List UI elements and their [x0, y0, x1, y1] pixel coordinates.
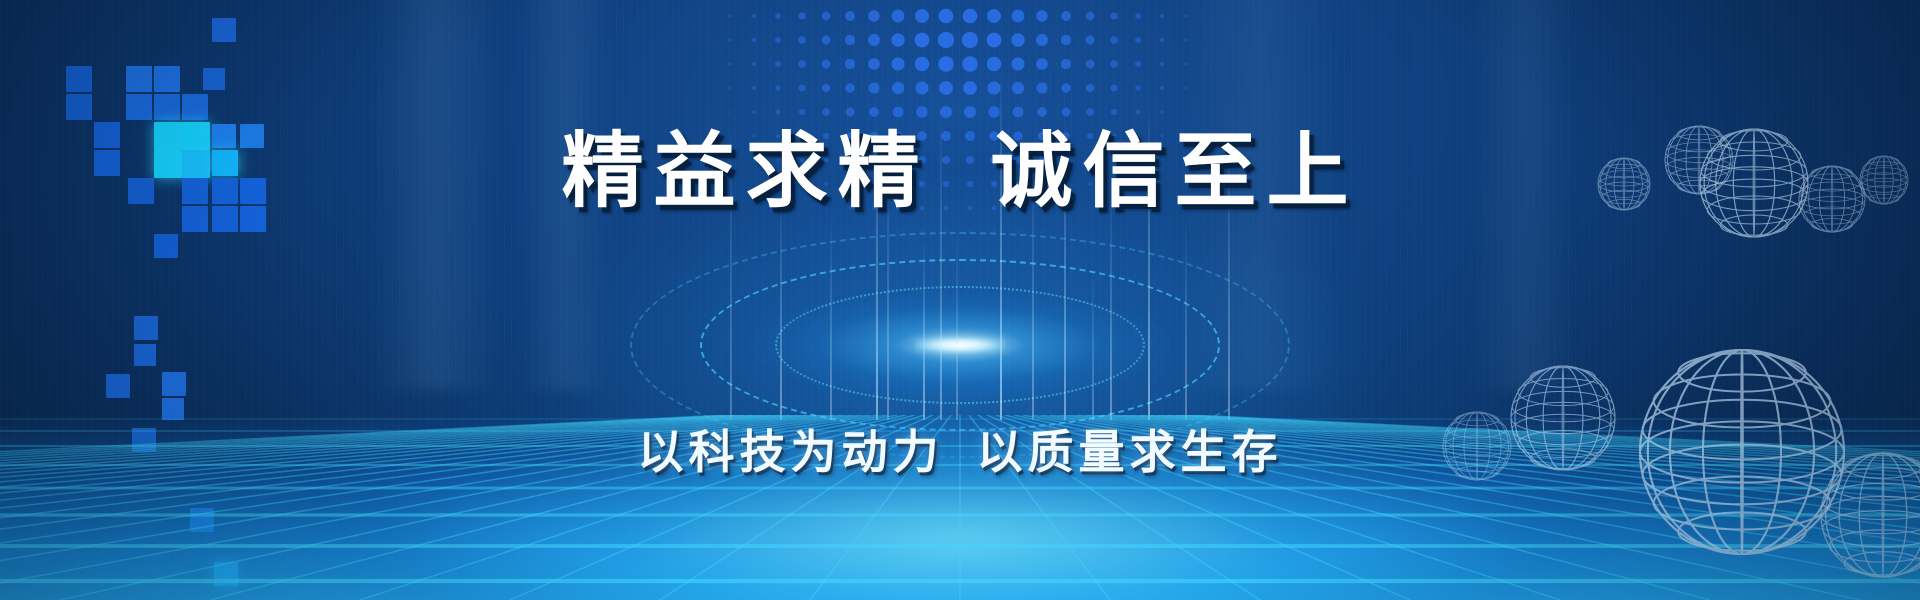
core-hotspot — [915, 337, 1005, 353]
mosaic-square — [162, 372, 186, 396]
mosaic-square — [154, 66, 180, 92]
mosaic-square — [203, 68, 225, 90]
mosaic-square — [134, 344, 156, 366]
mosaic-square — [66, 66, 92, 92]
mosaic-square — [154, 234, 178, 258]
orbit-ring-mid — [700, 259, 1220, 431]
data-streak — [1185, 216, 1187, 420]
orbit-ring-inner — [775, 286, 1145, 404]
mosaic-square — [134, 316, 158, 340]
mosaic-square — [106, 374, 130, 398]
mosaic-square — [212, 18, 236, 42]
main-title-container: 精益求精 诚信至上 — [0, 104, 1920, 223]
mosaic-square — [126, 66, 152, 92]
subtitle-container: 以科技为动力 以质量求生存 — [0, 416, 1920, 482]
data-streak — [830, 208, 832, 420]
subtitle: 以科技为动力 以质量求生存 — [638, 416, 1283, 482]
data-streak — [1092, 270, 1094, 420]
data-streak — [923, 240, 925, 420]
data-streak — [956, 224, 958, 420]
core-glow — [750, 290, 1170, 400]
main-title: 精益求精 诚信至上 — [561, 104, 1358, 223]
hero-banner: 精益求精 诚信至上 以科技为动力 以质量求生存 — [0, 0, 1920, 600]
